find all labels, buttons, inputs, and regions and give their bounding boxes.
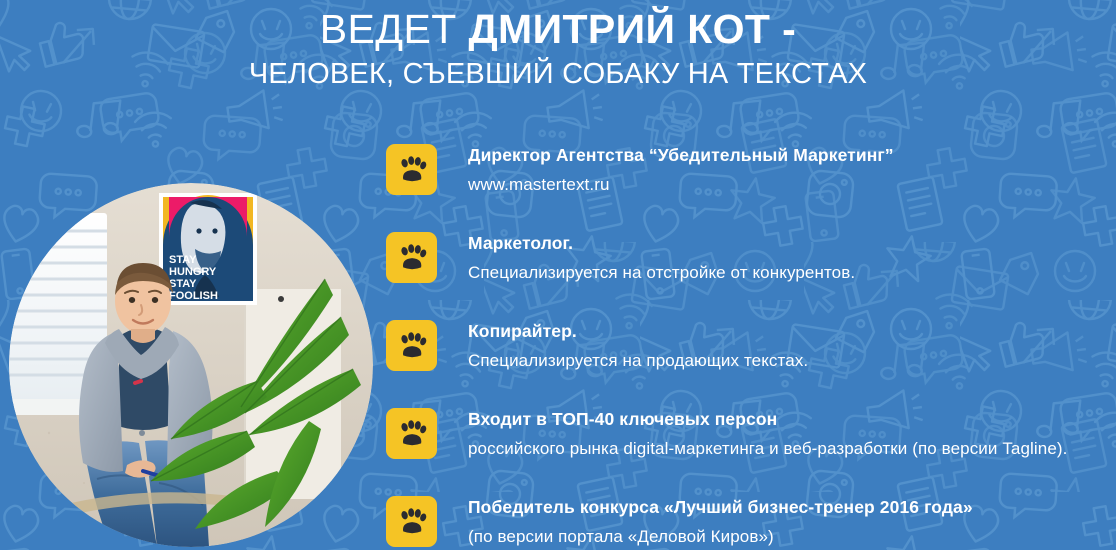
heading-line-1: ВЕДЕТ ДМИТРИЙ КОТ - [0,8,1116,51]
credential-title: Победитель конкурса «Лучший бизнес-трене… [468,497,973,519]
credential-item: Маркетолог. Специализируется на отстройк… [386,232,1116,320]
credential-title: Маркетолог. [468,233,855,255]
credential-text: Директор Агентства “Убедительный Маркети… [468,144,894,196]
credential-item: Входит в ТОП-40 ключевых персон российск… [386,408,1116,496]
slide-heading: ВЕДЕТ ДМИТРИЙ КОТ - ЧЕЛОВЕК, СЪЕВШИЙ СОБ… [0,8,1116,90]
credential-item: Победитель конкурса «Лучший бизнес-трене… [386,496,1116,550]
portrait-illustration: STAY HUNGRY STAY FOOLISH [9,183,373,547]
svg-text:STAY: STAY [169,278,197,290]
presentation-slide: ВЕДЕТ ДМИТРИЙ КОТ - ЧЕЛОВЕК, СЪЕВШИЙ СОБ… [0,0,1116,550]
heading-line-2: ЧЕЛОВЕК, СЪЕВШИЙ СОБАКУ НА ТЕКСТАХ [0,59,1116,90]
paw-print-icon [386,408,437,459]
credential-text: Победитель конкурса «Лучший бизнес-трене… [468,496,973,548]
speaker-portrait-photo: STAY HUNGRY STAY FOOLISH [9,183,373,547]
credential-title: Копирайтер. [468,321,808,343]
heading-line-1-bold: ДМИТРИЙ КОТ - [468,6,796,52]
credential-text: Входит в ТОП-40 ключевых персон российск… [468,408,1067,460]
credential-title: Директор Агентства “Убедительный Маркети… [468,145,894,167]
credential-item: Копирайтер. Специализируется на продающи… [386,320,1116,408]
credential-subtitle: российского рынка digital-маркетинга и в… [468,438,1067,460]
poster-stay-hungry-stay-foolish: STAY HUNGRY STAY FOOLISH [159,193,257,305]
heading-line-1-light: ВЕДЕТ [320,6,469,52]
credential-subtitle: Специализируется на отстройке от конкуре… [468,262,855,284]
paw-print-icon [386,232,437,283]
paw-print-icon [386,144,437,195]
credentials-list: Директор Агентства “Убедительный Маркети… [386,144,1116,550]
svg-text:FOOLISH: FOOLISH [169,290,218,302]
credential-title: Входит в ТОП-40 ключевых персон [468,409,1067,431]
paw-print-icon [386,496,437,547]
credential-text: Копирайтер. Специализируется на продающи… [468,320,808,372]
credential-text: Маркетолог. Специализируется на отстройк… [468,232,855,284]
credential-subtitle: Специализируется на продающих текстах. [468,350,808,372]
credential-item: Директор Агентства “Убедительный Маркети… [386,144,1116,232]
credential-subtitle: www.mastertext.ru [468,174,894,196]
svg-text:HUNGRY: HUNGRY [169,266,217,278]
svg-text:STAY: STAY [169,254,197,266]
paw-print-icon [386,320,437,371]
credential-subtitle: (по версии портала «Деловой Киров») [468,526,973,548]
